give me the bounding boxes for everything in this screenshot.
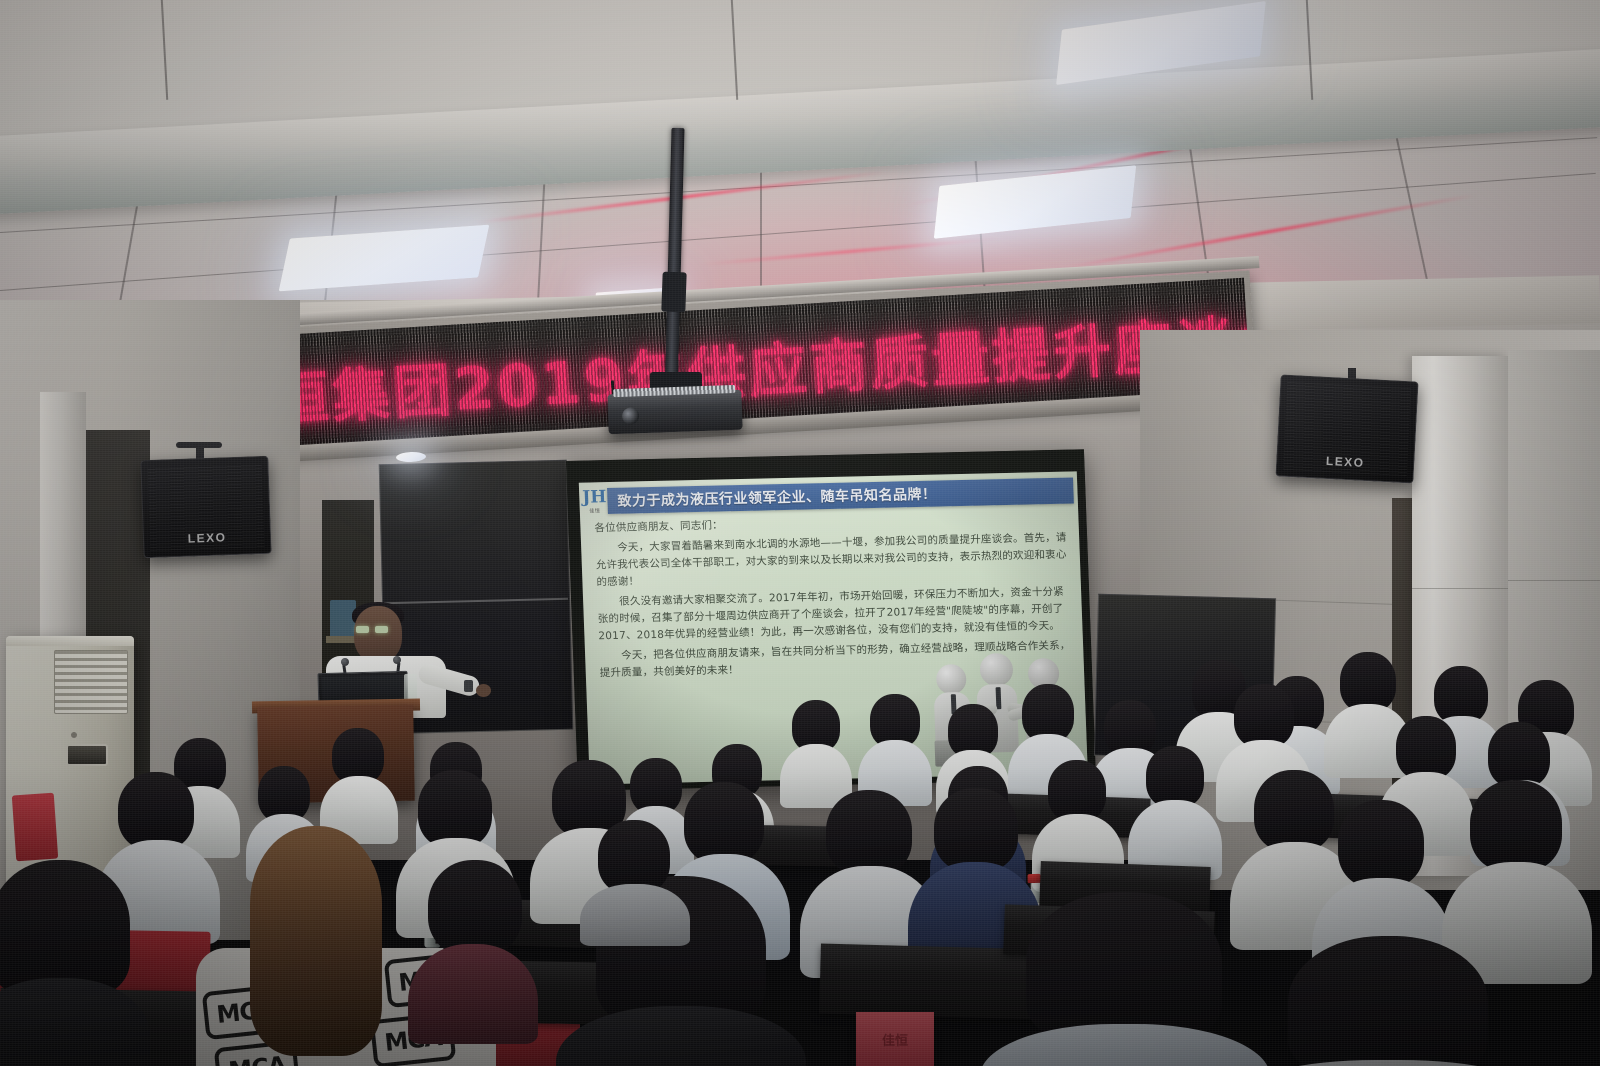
column-seam [1412, 588, 1508, 589]
glasses-icon [356, 626, 369, 633]
projector-lens-icon [622, 407, 640, 425]
wall-speaker-left: LEXO [140, 456, 271, 558]
speaker-bracket-left [176, 442, 222, 448]
audience-person [858, 694, 932, 802]
ac-vent-louvers [54, 650, 128, 714]
presenter-head [354, 606, 402, 662]
speaker-brand-label: LEXO [188, 530, 227, 545]
projector-mount-joint [661, 272, 686, 313]
wall-speaker-right: LEXO [1275, 374, 1418, 483]
presenter-hand [476, 684, 491, 697]
logo-mark: JH [582, 489, 607, 507]
ac-display-panel [66, 744, 108, 766]
placard-text: 佳恒 [882, 1030, 908, 1049]
slide-header-text: 致力于成为液压行业领军企业、随车吊知名品牌！ [617, 484, 937, 511]
company-logo-icon: JH 佳恒 [581, 486, 608, 517]
ac-top-cap [6, 636, 134, 646]
logo-subtext: 佳恒 [589, 507, 600, 514]
microphone-icon [341, 658, 349, 666]
audience-person [320, 728, 398, 840]
slide-header-banner: 致力于成为液压行业领军企业、随车吊知名品牌！ [607, 477, 1074, 514]
audience-person-foreground [1238, 936, 1538, 1066]
speaker-brand-label: LEXO [1326, 454, 1365, 470]
slide-paragraph: 很久没有邀请大家相聚交流了。2017年年初，市场开始回暖，环保压力不断加大，资金… [597, 584, 1073, 646]
conference-room-photo: 佳恒集团2019年供应商质量提升座谈会 LEXO JH 佳恒 致力于成为 [0, 0, 1600, 1066]
chair-back [12, 793, 59, 862]
audience-person [580, 820, 690, 940]
audience-person-foreground [980, 892, 1270, 1066]
audience-person-foreground [0, 860, 150, 1066]
audience-person [1128, 746, 1222, 876]
slide-paragraph: 今天，大家冒着酷暑来到南水北调的水源地——十堰，参加我公司的质量提升座谈会。首先… [595, 530, 1071, 592]
ceiling-projector [607, 390, 742, 435]
glasses-icon [375, 626, 388, 633]
ac-indicator-icon [71, 732, 77, 738]
foreground-person-hair [250, 826, 382, 1056]
microphone-icon [393, 656, 401, 664]
wall-seam [1508, 580, 1600, 581]
wristwatch-icon [464, 680, 473, 692]
audience-person-foreground [408, 860, 538, 1040]
name-placard: 佳恒 [856, 1012, 934, 1066]
